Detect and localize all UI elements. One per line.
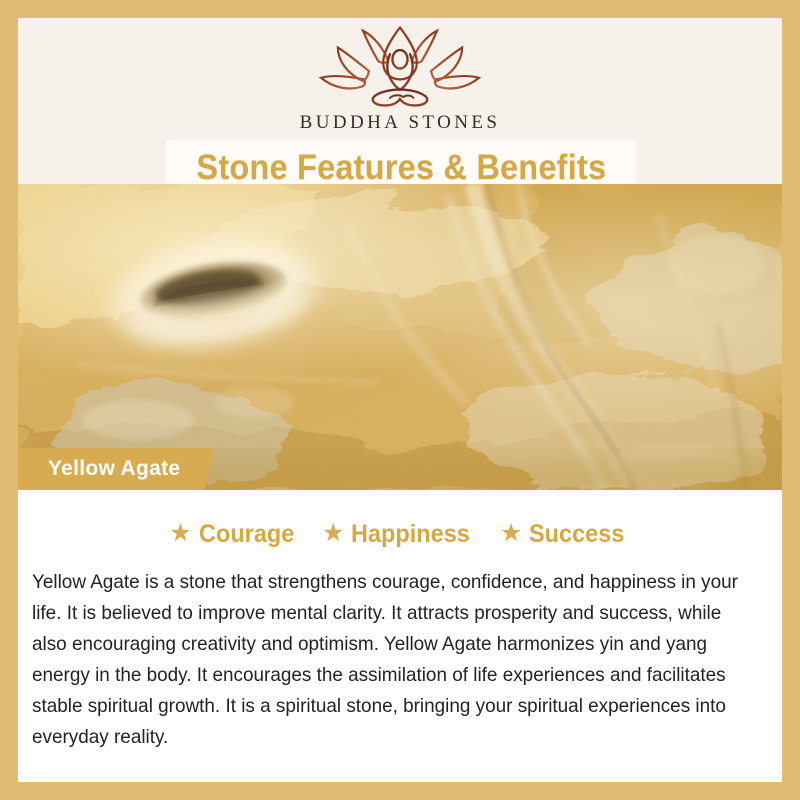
benefit-item-happiness: ★ Happiness: [322, 520, 478, 549]
stone-description: Yellow Agate is a stone that strengthens…: [32, 567, 746, 753]
stone-photo: [18, 184, 782, 490]
product-infographic: BUDDHA STONES Stone Features & Benefits: [0, 0, 800, 800]
benefit-item-courage: ★ Courage: [169, 520, 300, 549]
content-panel: ★ Courage ★ Happiness ★ Success Yellow A…: [18, 490, 782, 782]
stone-name-banner: Yellow Agate: [18, 448, 214, 490]
page-title: Stone Features & Benefits: [196, 148, 606, 188]
brand-logo-block: BUDDHA STONES: [18, 24, 782, 134]
stone-name-label: Yellow Agate: [48, 457, 180, 481]
star-icon: ★: [322, 521, 344, 546]
benefit-label: Success: [529, 520, 624, 549]
page-inset: BUDDHA STONES Stone Features & Benefits: [18, 18, 782, 782]
lotus-meditation-figure-icon: [316, 24, 484, 110]
star-icon: ★: [500, 521, 522, 546]
benefit-item-success: ★ Success: [500, 520, 631, 549]
benefit-label: Courage: [199, 520, 294, 549]
benefit-label: Happiness: [351, 520, 470, 549]
benefits-row: ★ Courage ★ Happiness ★ Success: [18, 490, 782, 549]
brand-name: BUDDHA STONES: [300, 112, 501, 134]
star-icon: ★: [169, 521, 191, 546]
